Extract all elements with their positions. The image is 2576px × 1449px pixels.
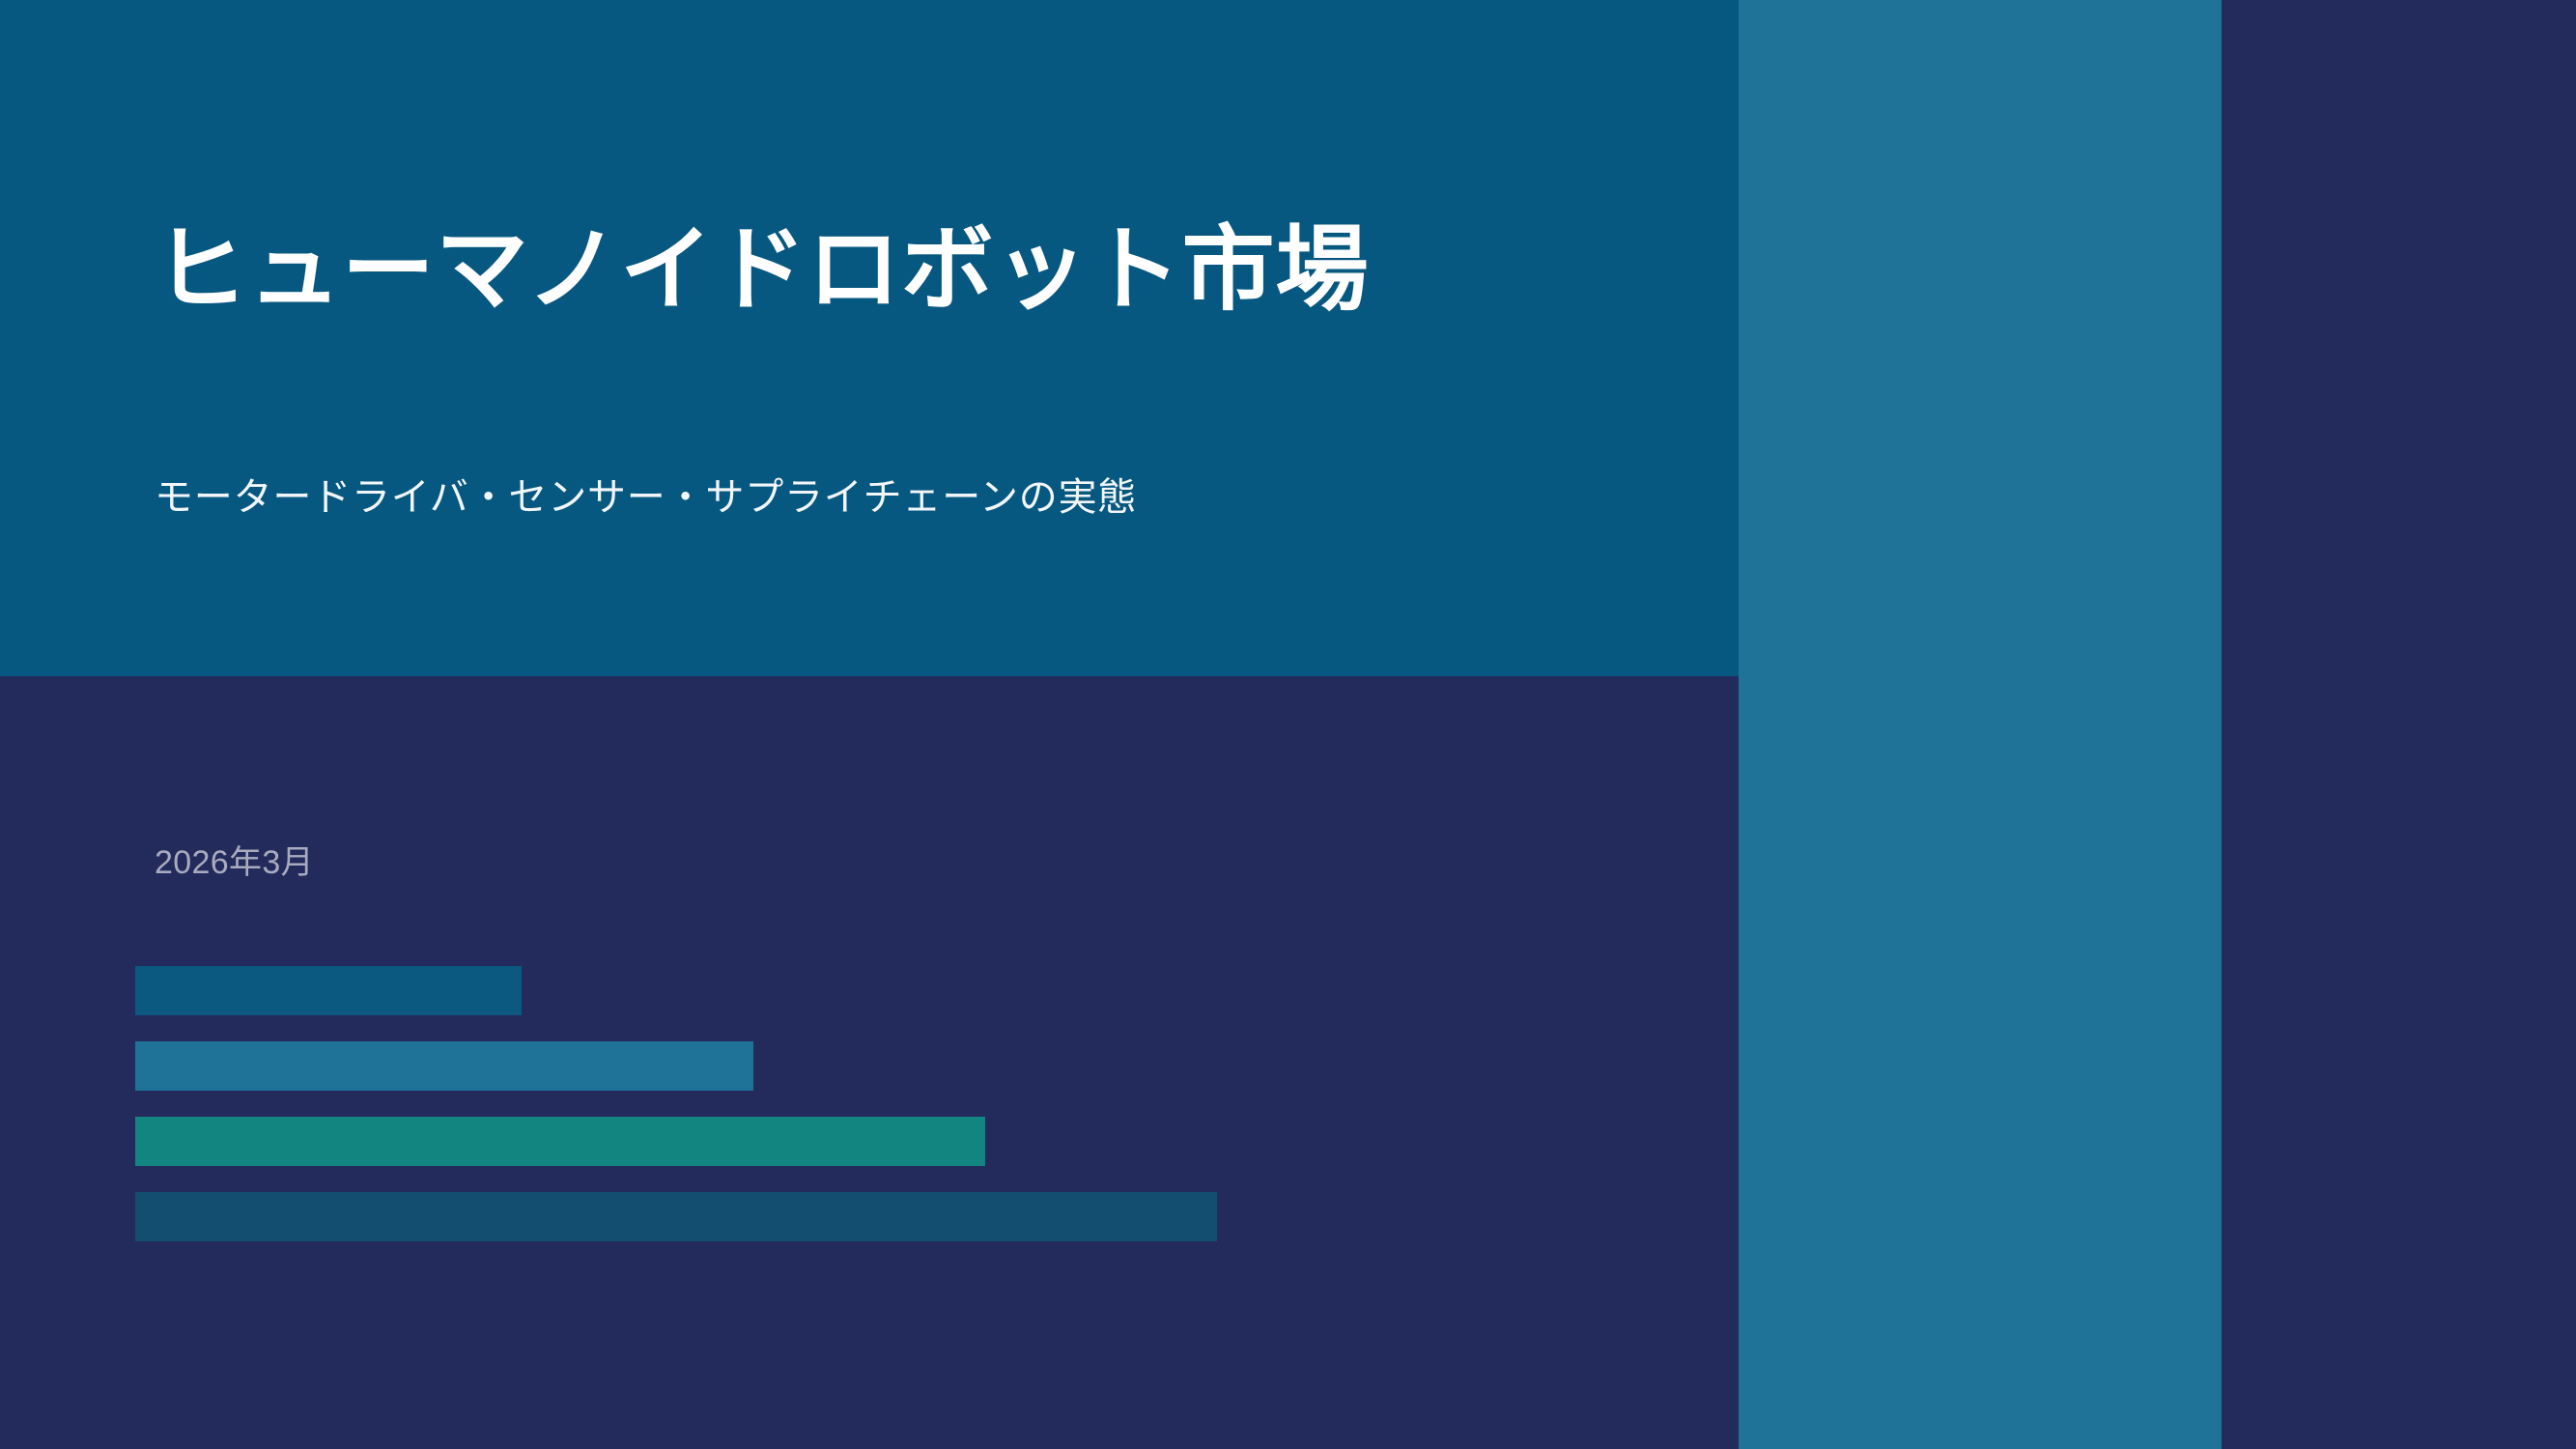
accent-stripe: [1739, 0, 2222, 1449]
bar-row: [135, 1041, 1487, 1091]
bar-4: [135, 1192, 1217, 1241]
bar-2: [135, 1041, 753, 1091]
page-title: ヒューマノイドロボット市場: [155, 214, 1661, 326]
bar-1: [135, 966, 522, 1015]
bar-row: [135, 966, 1487, 1015]
decorative-bar-chart: [135, 966, 1487, 1256]
title-slide: ヒューマノイドロボット市場 モータードライバ・センサー・サプライチェーンの実態 …: [0, 0, 2576, 1449]
date-label: 2026年3月: [155, 836, 314, 883]
bar-3: [135, 1117, 985, 1166]
bar-row: [135, 1192, 1487, 1241]
bar-row: [135, 1117, 1487, 1166]
header-band: [0, 0, 1739, 676]
page-subtitle: モータードライバ・センサー・サプライチェーンの実態: [155, 470, 1661, 525]
